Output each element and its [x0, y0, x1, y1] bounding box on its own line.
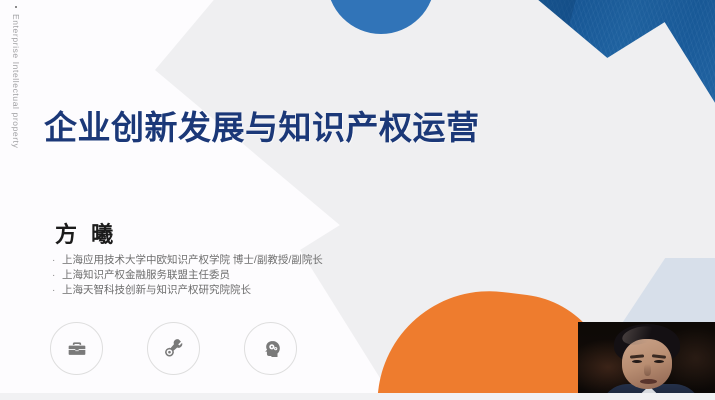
icon-circle-briefcase: [50, 322, 103, 375]
briefcase-icon: [67, 339, 87, 359]
speaker-video-overlay[interactable]: [578, 322, 715, 393]
video-person-mouth: [640, 379, 657, 384]
slide-viewer: Enterprise Intellectual property 企业创新发展与…: [0, 0, 715, 400]
page-title: 企业创新发展与知识产权运营: [44, 101, 480, 149]
presentation-slide: Enterprise Intellectual property 企业创新发展与…: [0, 0, 715, 393]
video-frame: [578, 322, 715, 393]
credential-text: 上海知识产权金融服务联盟主任委员: [62, 268, 230, 283]
wrench-gear-icon: [163, 338, 184, 359]
bullet-icon: ·: [52, 253, 62, 268]
speaker-name: 方 曦: [55, 217, 117, 249]
icon-circle-wrench-gear: [147, 322, 200, 375]
icon-circle-head-gears: [244, 322, 297, 375]
side-label-text: Enterprise Intellectual property: [11, 14, 21, 148]
credentials-list: · 上海应用技术大学中欧知识产权学院 博士/副教授/副院长 · 上海知识产权金融…: [52, 253, 323, 298]
bullet-icon: ·: [52, 283, 62, 298]
list-item: · 上海应用技术大学中欧知识产权学院 博士/副教授/副院长: [52, 253, 323, 268]
video-person-eye-left: [632, 360, 642, 363]
icon-row: [50, 322, 297, 375]
video-person-eye-right: [654, 360, 664, 363]
head-gears-icon: [261, 339, 281, 359]
side-label: Enterprise Intellectual property: [5, 6, 27, 196]
credential-text: 上海天智科技创新与知识产权研究院院长: [62, 283, 251, 298]
credential-text: 上海应用技术大学中欧知识产权学院 博士/副教授/副院长: [62, 253, 323, 268]
video-person-nose: [644, 364, 651, 376]
side-label-bullet-icon: [15, 6, 17, 8]
bottom-strip: [0, 393, 715, 400]
list-item: · 上海知识产权金融服务联盟主任委员: [52, 268, 323, 283]
list-item: · 上海天智科技创新与知识产权研究院院长: [52, 283, 323, 298]
bullet-icon: ·: [52, 268, 62, 283]
